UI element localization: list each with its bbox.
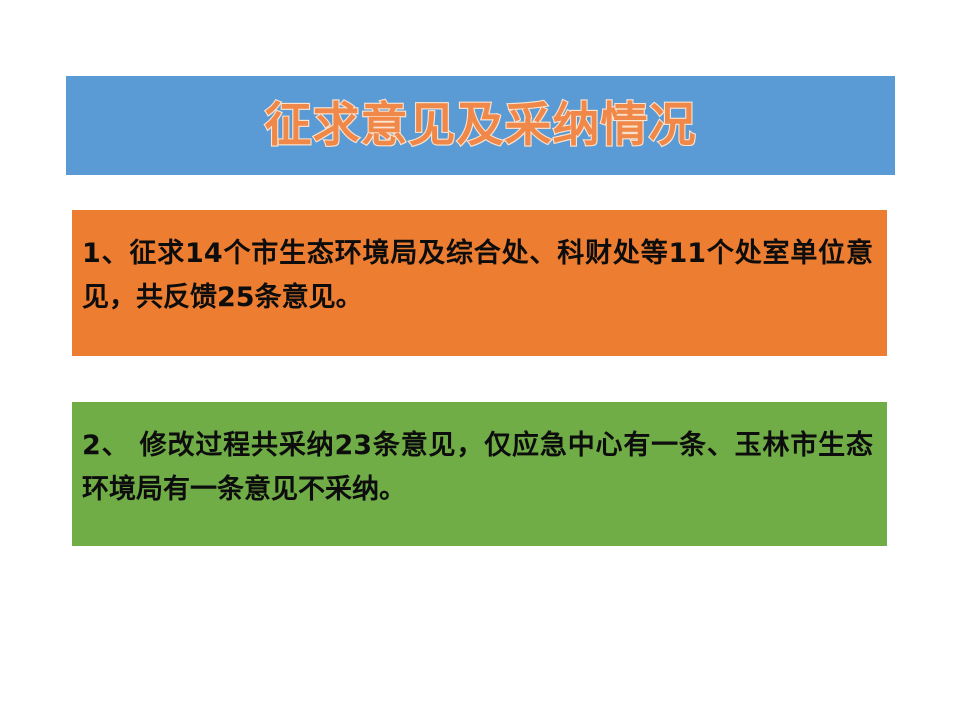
content-box-item-2: 2、 修改过程共采纳23条意见，仅应急中心有一条、玉林市生态环境局有一条意见不采…: [72, 402, 887, 546]
page-title: 征求意见及采纳情况: [265, 102, 697, 149]
content-text-item-2: 2、 修改过程共采纳23条意见，仅应急中心有一条、玉林市生态环境局有一条意见不采…: [82, 424, 873, 511]
slide-canvas: 征求意见及采纳情况 1、征求14个市生态环境局及综合处、科财处等11个处室单位意…: [0, 0, 960, 720]
content-text-item-1: 1、征求14个市生态环境局及综合处、科财处等11个处室单位意见，共反馈25条意见…: [82, 232, 873, 319]
title-banner: 征求意见及采纳情况: [66, 76, 895, 175]
content-box-item-1: 1、征求14个市生态环境局及综合处、科财处等11个处室单位意见，共反馈25条意见…: [72, 210, 887, 356]
